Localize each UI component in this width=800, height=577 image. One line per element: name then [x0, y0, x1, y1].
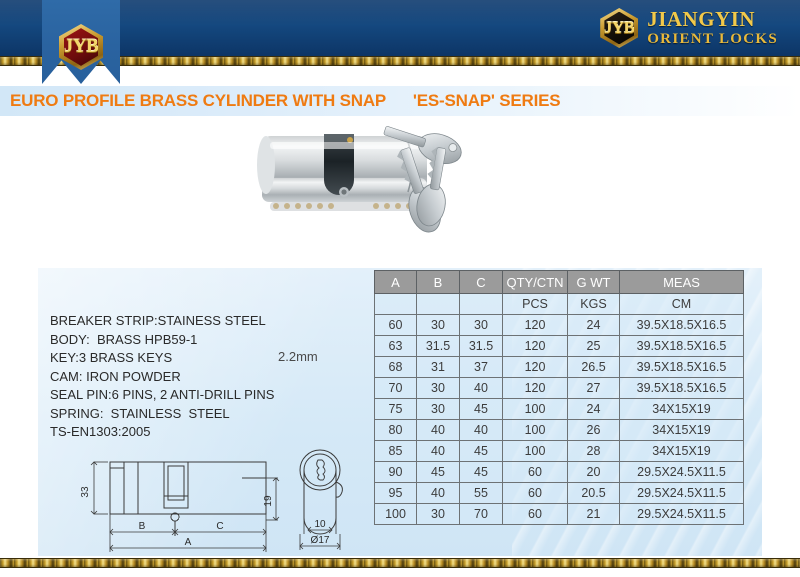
cell-a: 60	[375, 315, 417, 336]
cell-a: 90	[375, 462, 417, 483]
cell-gwt: 27	[568, 378, 620, 399]
unit-a	[375, 294, 417, 315]
table-row: 70 30 40 120 27 39.5X18.5X16.5	[375, 378, 744, 399]
cell-qty: 120	[503, 357, 568, 378]
column-header-qty: QTY/CTN	[503, 271, 568, 294]
cell-meas: 34X15X19	[620, 420, 744, 441]
brand-line-2: ORIENT LOCKS	[647, 32, 778, 47]
cell-qty: 60	[503, 483, 568, 504]
table-row: 68 31 37 120 26.5 39.5X18.5X16.5	[375, 357, 744, 378]
spec-seal-pin: SEAL PIN:6 PINS, 2 ANTI-DRILL PINS	[50, 386, 380, 405]
cell-qty: 100	[503, 441, 568, 462]
jyb-hexagon-emblem-icon: JYB	[59, 24, 103, 70]
cell-b: 31.5	[417, 336, 460, 357]
cell-a: 70	[375, 378, 417, 399]
brand-logo-text: JYB	[604, 18, 635, 38]
cell-b: 31	[417, 357, 460, 378]
cell-meas: 39.5X18.5X16.5	[620, 357, 744, 378]
page-header: JYB JIANGYIN ORIENT LOCKS	[0, 0, 800, 56]
cell-meas: 39.5X18.5X16.5	[620, 336, 744, 357]
spec-spring: SPRING: STAINLESS STEEL	[50, 405, 380, 424]
cell-b: 45	[417, 462, 460, 483]
cell-c: 37	[460, 357, 503, 378]
column-header-c: C	[460, 271, 503, 294]
table-row: 100 30 70 60 21 29.5X24.5X11.5	[375, 504, 744, 525]
unit-b	[417, 294, 460, 315]
cell-a: 95	[375, 483, 417, 504]
cell-gwt: 28	[568, 441, 620, 462]
cell-b: 40	[417, 483, 460, 504]
unit-gwt: KGS	[568, 294, 620, 315]
table-row: 85 40 45 100 28 34X15X19	[375, 441, 744, 462]
cell-meas: 29.5X24.5X11.5	[620, 462, 744, 483]
cell-a: 80	[375, 420, 417, 441]
cell-c: 30	[460, 315, 503, 336]
cell-meas: 34X15X19	[620, 399, 744, 420]
cell-gwt: 20	[568, 462, 620, 483]
cell-qty: 60	[503, 462, 568, 483]
cell-qty: 100	[503, 399, 568, 420]
spec-body: BODY: BRASS HPB59-1	[50, 331, 380, 350]
cell-a: 75	[375, 399, 417, 420]
column-header-a: A	[375, 271, 417, 294]
cell-c: 70	[460, 504, 503, 525]
cell-qty: 120	[503, 336, 568, 357]
cell-c: 45	[460, 462, 503, 483]
jyb-hexagon-icon: JYB	[600, 8, 638, 48]
cell-meas: 39.5X18.5X16.5	[620, 315, 744, 336]
cell-b: 30	[417, 315, 460, 336]
page-title-bar: EURO PROFILE BRASS CYLINDER WITH SNAP 'E…	[0, 86, 800, 116]
table-units-row: PCS KGS CM	[375, 294, 744, 315]
page-title: EURO PROFILE BRASS CYLINDER WITH SNAP 'E…	[10, 91, 560, 111]
cell-a: 68	[375, 357, 417, 378]
cell-c: 45	[460, 399, 503, 420]
cell-gwt: 24	[568, 315, 620, 336]
spec-breaker-strip: BREAKER STRIP:STAINESS STEEL	[50, 312, 380, 331]
cell-b: 30	[417, 378, 460, 399]
cell-c: 45	[460, 441, 503, 462]
drawing-label-height: 33	[80, 486, 91, 498]
technical-drawing: 33 19 B C	[38, 444, 383, 556]
column-header-gwt: G WT	[568, 271, 620, 294]
spec-key: KEY:3 BRASS KEYS	[50, 349, 380, 368]
content-panel: BREAKER STRIP:STAINESS STEEL BODY: BRASS…	[38, 268, 762, 556]
drawing-label-c: C	[216, 521, 223, 532]
cell-a: 100	[375, 504, 417, 525]
cell-gwt: 25	[568, 336, 620, 357]
product-photo	[236, 118, 506, 258]
table-row: 80 40 40 100 26 34X15X19	[375, 420, 744, 441]
cell-qty: 120	[503, 315, 568, 336]
cell-gwt: 24	[568, 399, 620, 420]
table-row: 75 30 45 100 24 34X15X19	[375, 399, 744, 420]
cell-meas: 39.5X18.5X16.5	[620, 378, 744, 399]
cell-qty: 120	[503, 378, 568, 399]
cell-gwt: 20.5	[568, 483, 620, 504]
cell-b: 40	[417, 420, 460, 441]
cell-b: 30	[417, 399, 460, 420]
brand-name: JIANGYIN ORIENT LOCKS	[647, 9, 778, 47]
drawing-label-cam: 19	[263, 495, 274, 507]
drawing-label-b: B	[139, 521, 146, 532]
drawing-label-end-width: 10	[314, 519, 326, 530]
specification-list: BREAKER STRIP:STAINESS STEEL BODY: BRASS…	[50, 312, 380, 442]
cell-c: 55	[460, 483, 503, 504]
table-row: 63 31.5 31.5 120 25 39.5X18.5X16.5	[375, 336, 744, 357]
specification-table: A B C QTY/CTN G WT MEAS PCS KGS CM 60 30…	[374, 270, 744, 525]
cell-meas: 29.5X24.5X11.5	[620, 483, 744, 504]
table-row: 95 40 55 60 20.5 29.5X24.5X11.5	[375, 483, 744, 504]
unit-meas: CM	[620, 294, 744, 315]
cell-meas: 29.5X24.5X11.5	[620, 504, 744, 525]
column-header-meas: MEAS	[620, 271, 744, 294]
spec-standard: TS-EN1303:2005	[50, 423, 380, 442]
cell-b: 40	[417, 441, 460, 462]
spec-cam: CAM: IRON POWDER	[50, 368, 380, 387]
table-row: 90 45 45 60 20 29.5X24.5X11.5	[375, 462, 744, 483]
cell-a: 63	[375, 336, 417, 357]
cell-gwt: 21	[568, 504, 620, 525]
brand-logo: JYB JIANGYIN ORIENT LOCKS	[600, 8, 778, 48]
gold-border-bottom	[0, 558, 800, 568]
cell-gwt: 26.5	[568, 357, 620, 378]
drawing-label-a: A	[185, 537, 192, 548]
cell-c: 40	[460, 420, 503, 441]
cell-b: 30	[417, 504, 460, 525]
cell-c: 31.5	[460, 336, 503, 357]
left-logo-banner: JYB	[42, 0, 120, 84]
gold-border-top	[0, 56, 800, 66]
left-logo-text: JYB	[64, 36, 98, 58]
cell-gwt: 26	[568, 420, 620, 441]
table-row: 60 30 30 120 24 39.5X18.5X16.5	[375, 315, 744, 336]
cell-c: 40	[460, 378, 503, 399]
table-body: PCS KGS CM 60 30 30 120 24 39.5X18.5X16.…	[375, 294, 744, 525]
cell-qty: 100	[503, 420, 568, 441]
cell-a: 85	[375, 441, 417, 462]
drawing-label-end-diameter: Ø17	[311, 535, 330, 546]
column-header-b: B	[417, 271, 460, 294]
cell-meas: 34X15X19	[620, 441, 744, 462]
table-header-row: A B C QTY/CTN G WT MEAS	[375, 271, 744, 294]
unit-qty: PCS	[503, 294, 568, 315]
unit-c	[460, 294, 503, 315]
cell-qty: 60	[503, 504, 568, 525]
brand-line-1: JIANGYIN	[647, 9, 778, 30]
thickness-note: 2.2mm	[278, 349, 318, 364]
